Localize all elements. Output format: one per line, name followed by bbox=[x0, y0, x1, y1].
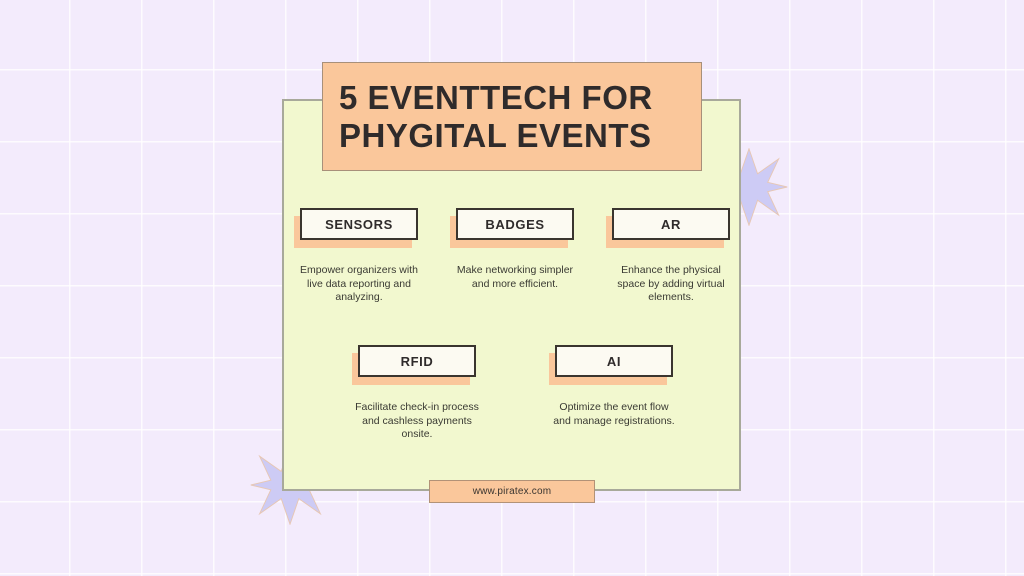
card-badges-chip[interactable]: BADGES bbox=[456, 208, 574, 240]
card-ai-description: Optimize the event flow and manage regis… bbox=[552, 401, 676, 428]
footer-website-label: www.piratex.com bbox=[473, 486, 552, 497]
chip-box: AR bbox=[612, 208, 730, 240]
card-ar-description: Enhance the physical space by adding vir… bbox=[609, 264, 733, 305]
card-sensors: SENSORS Empower organizers with live dat… bbox=[300, 208, 418, 305]
card-ar-chip[interactable]: AR bbox=[612, 208, 730, 240]
card-ar: AR Enhance the physical space by adding … bbox=[612, 208, 730, 305]
chip-box: RFID bbox=[358, 345, 476, 377]
footer-website-link[interactable]: www.piratex.com bbox=[429, 480, 595, 503]
chip-box: BADGES bbox=[456, 208, 574, 240]
card-rfid-chip[interactable]: RFID bbox=[358, 345, 476, 377]
chip-box: AI bbox=[555, 345, 673, 377]
card-ar-label: AR bbox=[661, 217, 681, 232]
card-sensors-label: SENSORS bbox=[325, 217, 393, 232]
card-ai-label: AI bbox=[607, 354, 621, 369]
chip-box: SENSORS bbox=[300, 208, 418, 240]
card-ai-chip[interactable]: AI bbox=[555, 345, 673, 377]
card-badges-label: BADGES bbox=[485, 217, 544, 232]
card-row-secondary: RFID Facilitate check-in process and cas… bbox=[358, 345, 673, 442]
card-sensors-description: Empower organizers with live data report… bbox=[297, 264, 421, 305]
page-title-line-1: 5 EVENTTECH FOR bbox=[339, 79, 701, 117]
poster-canvas: 5 EVENTTECH FOR PHYGITAL EVENTS SENSORS … bbox=[0, 0, 1024, 576]
card-rfid-description: Facilitate check-in process and cashless… bbox=[355, 401, 479, 442]
card-sensors-chip[interactable]: SENSORS bbox=[300, 208, 418, 240]
card-rfid: RFID Facilitate check-in process and cas… bbox=[358, 345, 476, 442]
card-ai: AI Optimize the event flow and manage re… bbox=[555, 345, 673, 442]
page-title-line-2: PHYGITAL EVENTS bbox=[339, 117, 701, 155]
card-rfid-label: RFID bbox=[401, 354, 434, 369]
card-row-primary: SENSORS Empower organizers with live dat… bbox=[300, 208, 730, 305]
card-badges-description: Make networking simpler and more efficie… bbox=[453, 264, 577, 291]
card-badges: BADGES Make networking simpler and more … bbox=[456, 208, 574, 305]
page-title: 5 EVENTTECH FOR PHYGITAL EVENTS bbox=[322, 62, 702, 171]
